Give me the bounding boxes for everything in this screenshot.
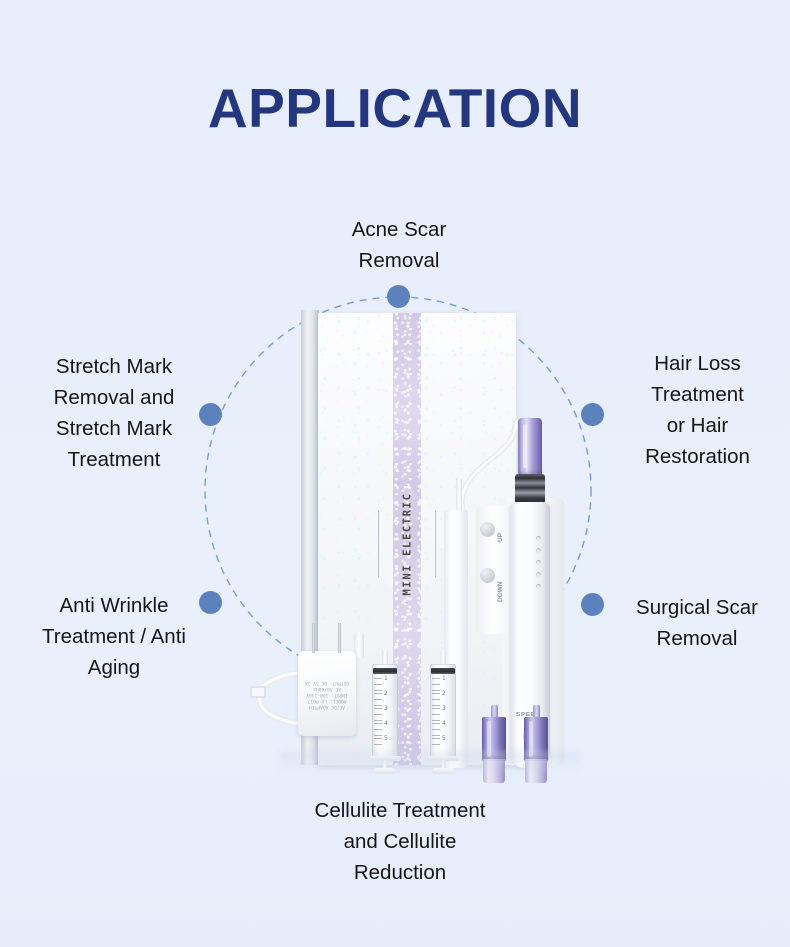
label-surgical-scar-removal: Surgical Scar Removal — [608, 592, 786, 654]
label-acne-scar-removal: Acne Scar Removal — [260, 214, 538, 276]
led-indicator — [536, 584, 541, 589]
syringe-scale-value: 4 — [384, 721, 388, 727]
syringe-plunger-head — [373, 668, 397, 674]
label-cellulite-treatment: Cellulite Treatment and Cellulite Reduct… — [250, 795, 550, 888]
up-button[interactable] — [480, 522, 495, 537]
node-dot-surgical[interactable] — [581, 593, 604, 616]
down-label: DOWN — [497, 581, 504, 602]
label-stretch-mark-removal: Stretch Mark Removal and Stretch Mark Tr… — [8, 351, 220, 475]
syringe-scale-value: 3 — [442, 706, 446, 712]
surface-reflection — [280, 751, 580, 777]
syringe-scale-value: 5 — [384, 736, 388, 742]
syringe-scale-value: 2 — [384, 691, 388, 697]
page-title: APPLICATION — [0, 78, 790, 139]
up-label: UP — [497, 533, 504, 542]
syringe-plunger-head — [431, 668, 455, 674]
handpiece-tip — [456, 478, 462, 514]
led-indicator — [536, 548, 541, 553]
product-photo: MINI ELECTRIC UP DOWN SPEED — [280, 310, 580, 775]
label-anti-wrinkle-treatment: Anti Wrinkle Treatment / Anti Aging — [8, 590, 220, 683]
ac-adapter: AC/DC ADAPTER MODEL: LU-P017 INPUT: 100-… — [298, 651, 356, 736]
adapter-prong — [312, 623, 315, 653]
syringe-scale-value: 1 — [442, 676, 446, 682]
node-dot-acne[interactable] — [387, 285, 410, 308]
syringe-scale-value: 1 — [384, 676, 388, 682]
syringe-scale-value: 5 — [442, 736, 446, 742]
box-badge-label: MINI ELECTRIC — [401, 493, 413, 596]
led-indicator — [536, 572, 541, 577]
label-hair-loss-treatment: Hair Loss Treatment or Hair Restoration — [610, 348, 785, 472]
syringe-scale-value: 3 — [384, 706, 388, 712]
node-dot-hair[interactable] — [581, 403, 604, 426]
syringe-scale: 1 2 3 4 5 — [432, 676, 454, 754]
led-indicator — [536, 560, 541, 565]
syringe-scale-value: 2 — [442, 691, 446, 697]
pen-needle-cartridge — [518, 418, 542, 476]
syringe-scale: 1 2 3 4 5 — [374, 676, 396, 754]
pen-metal-collar — [515, 474, 545, 504]
down-button[interactable] — [480, 568, 495, 583]
adapter-prong — [338, 623, 341, 653]
adapter-spec-text: AC/DC ADAPTER MODEL: LU-P017 INPUT: 100-… — [299, 679, 355, 709]
syringe-scale-value: 4 — [442, 721, 446, 727]
led-indicator — [536, 536, 541, 541]
